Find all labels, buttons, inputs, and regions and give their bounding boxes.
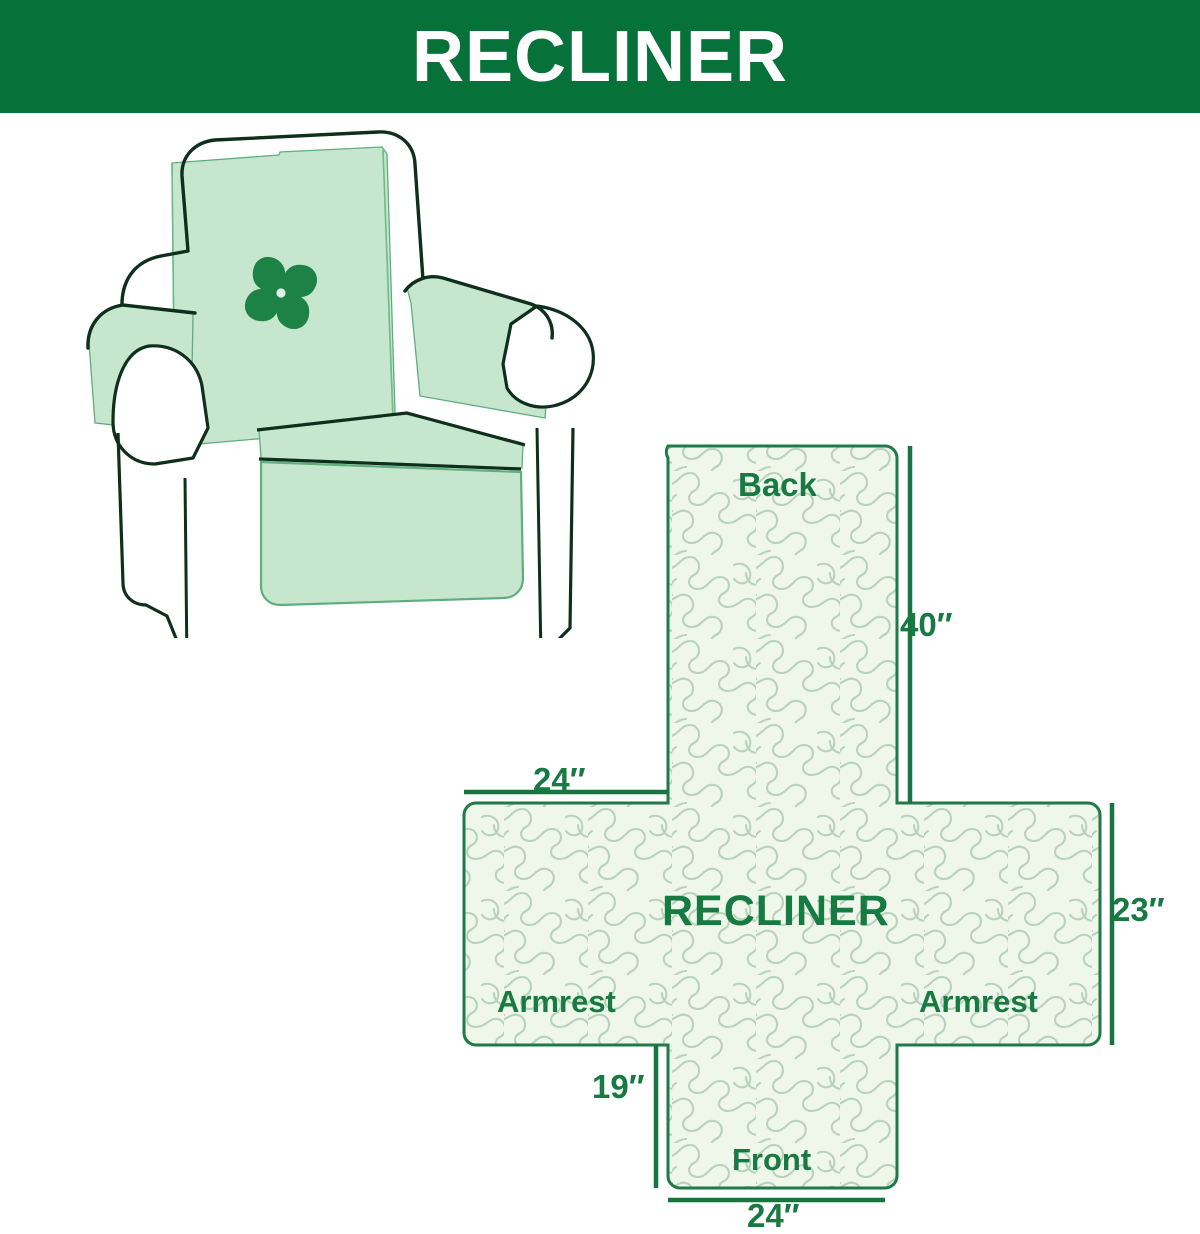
cover-pattern-shape: [464, 446, 1100, 1188]
dimension-label-front-width: 24″: [747, 1199, 800, 1232]
dimension-label-back-height: 40″: [900, 608, 953, 641]
recliner-cover-pattern-diagram: [420, 303, 1200, 1203]
dimension-label-front-height: 19″: [592, 1070, 645, 1103]
dimension-label-arm-height: 23″: [1112, 893, 1165, 926]
section-label-front: Front: [732, 1144, 811, 1175]
header-banner: RECLINER: [0, 0, 1200, 113]
diagram-stage: Back RECLINER Armrest Armrest Front 40″ …: [0, 113, 1200, 1200]
section-label-center: RECLINER: [662, 890, 890, 933]
section-label-armrest-right: Armrest: [919, 986, 1038, 1017]
pinwheel-fan-icon: [245, 257, 317, 329]
dimension-label-left-width: 24″: [533, 763, 586, 796]
section-label-back: Back: [738, 468, 817, 501]
section-label-armrest-left: Armrest: [497, 986, 616, 1017]
page-title: RECLINER: [412, 21, 788, 93]
